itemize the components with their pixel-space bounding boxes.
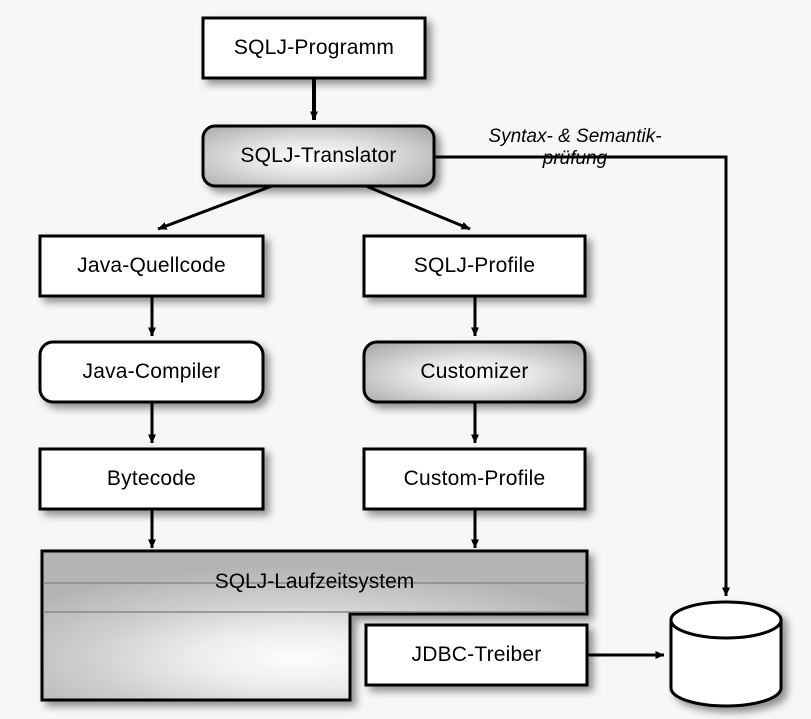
node-sqlj-programm[interactable] [203, 18, 425, 78]
diagram-shapes-layer [0, 0, 811, 719]
edge-translator-to-quellcode [158, 186, 272, 229]
node-custom-profile[interactable] [364, 449, 585, 509]
diagram-canvas: SQLJ-Programm SQLJ-Translator Java-Quell… [0, 0, 811, 719]
node-sqlj-profile[interactable] [364, 236, 585, 296]
edge-label-line-1: Syntax- & Semantik- [458, 126, 692, 148]
edge-label-line-2: prüfung [458, 148, 692, 170]
node-java-compiler[interactable] [40, 342, 263, 402]
edge-translator-to-profile [366, 186, 470, 229]
node-sqlj-translator[interactable] [203, 126, 434, 186]
node-bytecode[interactable] [40, 449, 263, 509]
edge-label-syntax-semantik-pruefung: Syntax- & Semantik- prüfung [458, 126, 692, 170]
node-datenbank[interactable] [671, 602, 781, 706]
node-jdbc-treiber[interactable] [366, 625, 587, 685]
database-cylinder-top [671, 602, 781, 638]
node-customizer[interactable] [364, 342, 585, 402]
node-java-quellcode[interactable] [40, 236, 263, 296]
